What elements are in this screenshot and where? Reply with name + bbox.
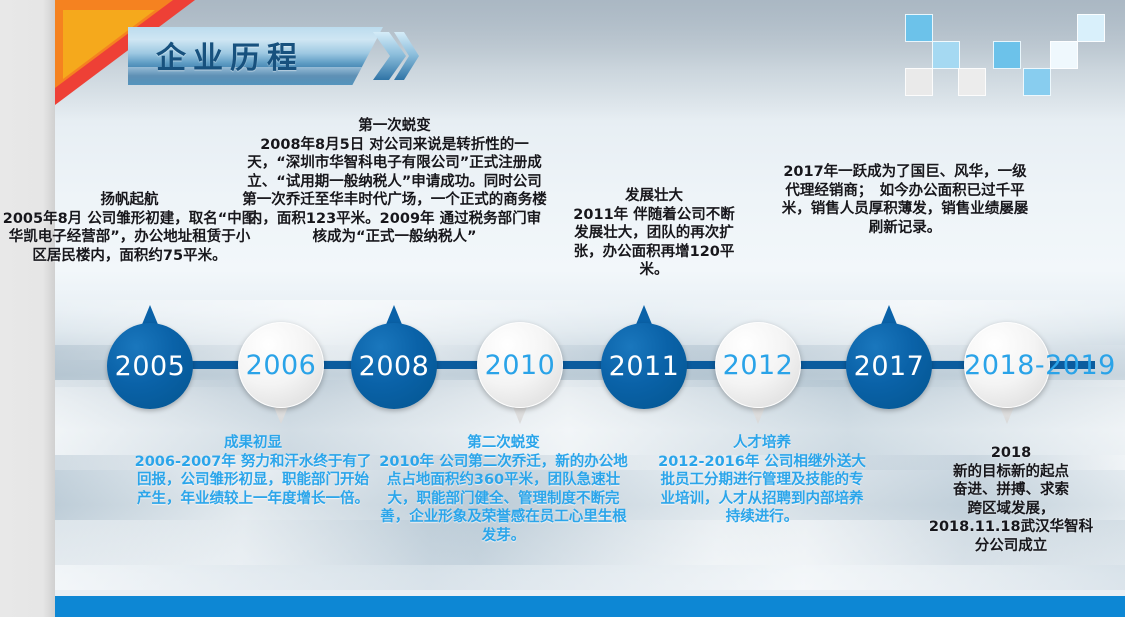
description-body: 2006-2007年 努力和汗水终于有了回报，公司雏形初显，职能部门开始产生，年… [135,454,372,507]
description-heading: 扬帆起航 [2,191,257,210]
description-body: 2008年8月5日 对公司来说是转折性的一天，“深圳市华智科电子有限公司”正式注… [242,137,547,246]
double-chevron-right-icon [373,29,419,83]
marker-year-label: 2011 [601,323,687,409]
timeline-marker-2006[interactable]: 2006 [238,322,324,426]
timeline-marker-2011[interactable]: 2011 [601,305,687,409]
description-body: 2012-2016年 公司相继外送大批员工分期进行管理及技能的专业培训，人才从招… [658,454,866,526]
description-block: 成果初显2006-2007年 努力和汗水终于有了回报，公司雏形初显，职能部门开始… [133,434,373,508]
timeline-marker-2012[interactable]: 2012 [715,322,801,426]
timeline-marker-2017[interactable]: 2017 [846,305,932,409]
marker-year-label: 2017 [846,323,932,409]
timeline-marker-2010[interactable]: 2010 [477,322,563,426]
description-heading: 人才培养 [654,434,870,453]
left-gutter [0,0,55,617]
description-body: 2017年一跃成为了国巨、风华，一级代理经销商； 如今办公面积已过千平米，销售人… [782,164,1029,236]
description-heading: 第一次蜕变 [241,117,548,136]
marker-year-label: 2018-2019 [964,322,1050,408]
marker-year-label: 2006 [238,322,324,408]
timeline-marker-2005[interactable]: 2005 [107,305,193,409]
timeline-marker-2018-2019[interactable]: 2018-2019 [964,322,1050,426]
marker-year-label: 2008 [351,323,437,409]
description-block: 第二次蜕变2010年 公司第二次乔迁，新的办公地点占地面积约360平米，团队急速… [377,434,630,545]
description-body: 新的目标新的起点奋进、拼搏、求索跨区域发展，2018.11.18武汉华智科分公司… [929,464,1093,554]
page-title: 企业历程 [156,33,304,77]
description-block: 发展壮大2011年 伴随着公司不断发展壮大，团队的再次扩张，办公面积再增120平… [568,187,740,280]
slide-canvas: 企业历程 20052006200820102011201220172018-20… [0,0,1125,617]
bottom-accent-bar [55,596,1125,617]
description-body: 2011年 伴随着公司不断发展壮大，团队的再次扩张，办公面积再增120平米。 [573,207,734,279]
description-body: 2010年 公司第二次乔迁，新的办公地点占地面积约360平米，团队急速壮大，职能… [379,454,627,544]
squares-pattern-icon [880,0,1125,120]
description-heading: 成果初显 [133,434,373,453]
timeline-marker-2008[interactable]: 2008 [351,305,437,409]
description-block: 2018新的目标新的起点奋进、拼搏、求索跨区域发展，2018.11.18武汉华智… [903,444,1119,555]
description-heading: 2018 [903,444,1119,463]
marker-year-label: 2010 [477,322,563,408]
description-block: 2017年一跃成为了国巨、风华，一级代理经销商； 如今办公面积已过千平米，销售人… [780,163,1030,237]
description-heading: 发展壮大 [568,187,740,206]
description-block: 第一次蜕变2008年8月5日 对公司来说是转折性的一天，“深圳市华智科电子有限公… [241,117,548,247]
page-title-banner: 企业历程 [128,27,413,85]
marker-year-label: 2012 [715,322,801,408]
description-body: 2005年8月 公司雏形初建，取名“中图华凯电子经营部”，办公地址租赁于小区居民… [3,211,257,264]
description-block: 扬帆起航2005年8月 公司雏形初建，取名“中图华凯电子经营部”，办公地址租赁于… [2,191,257,265]
marker-year-label: 2005 [107,323,193,409]
description-block: 人才培养2012-2016年 公司相继外送大批员工分期进行管理及技能的专业培训，… [654,434,870,527]
description-heading: 第二次蜕变 [377,434,630,453]
